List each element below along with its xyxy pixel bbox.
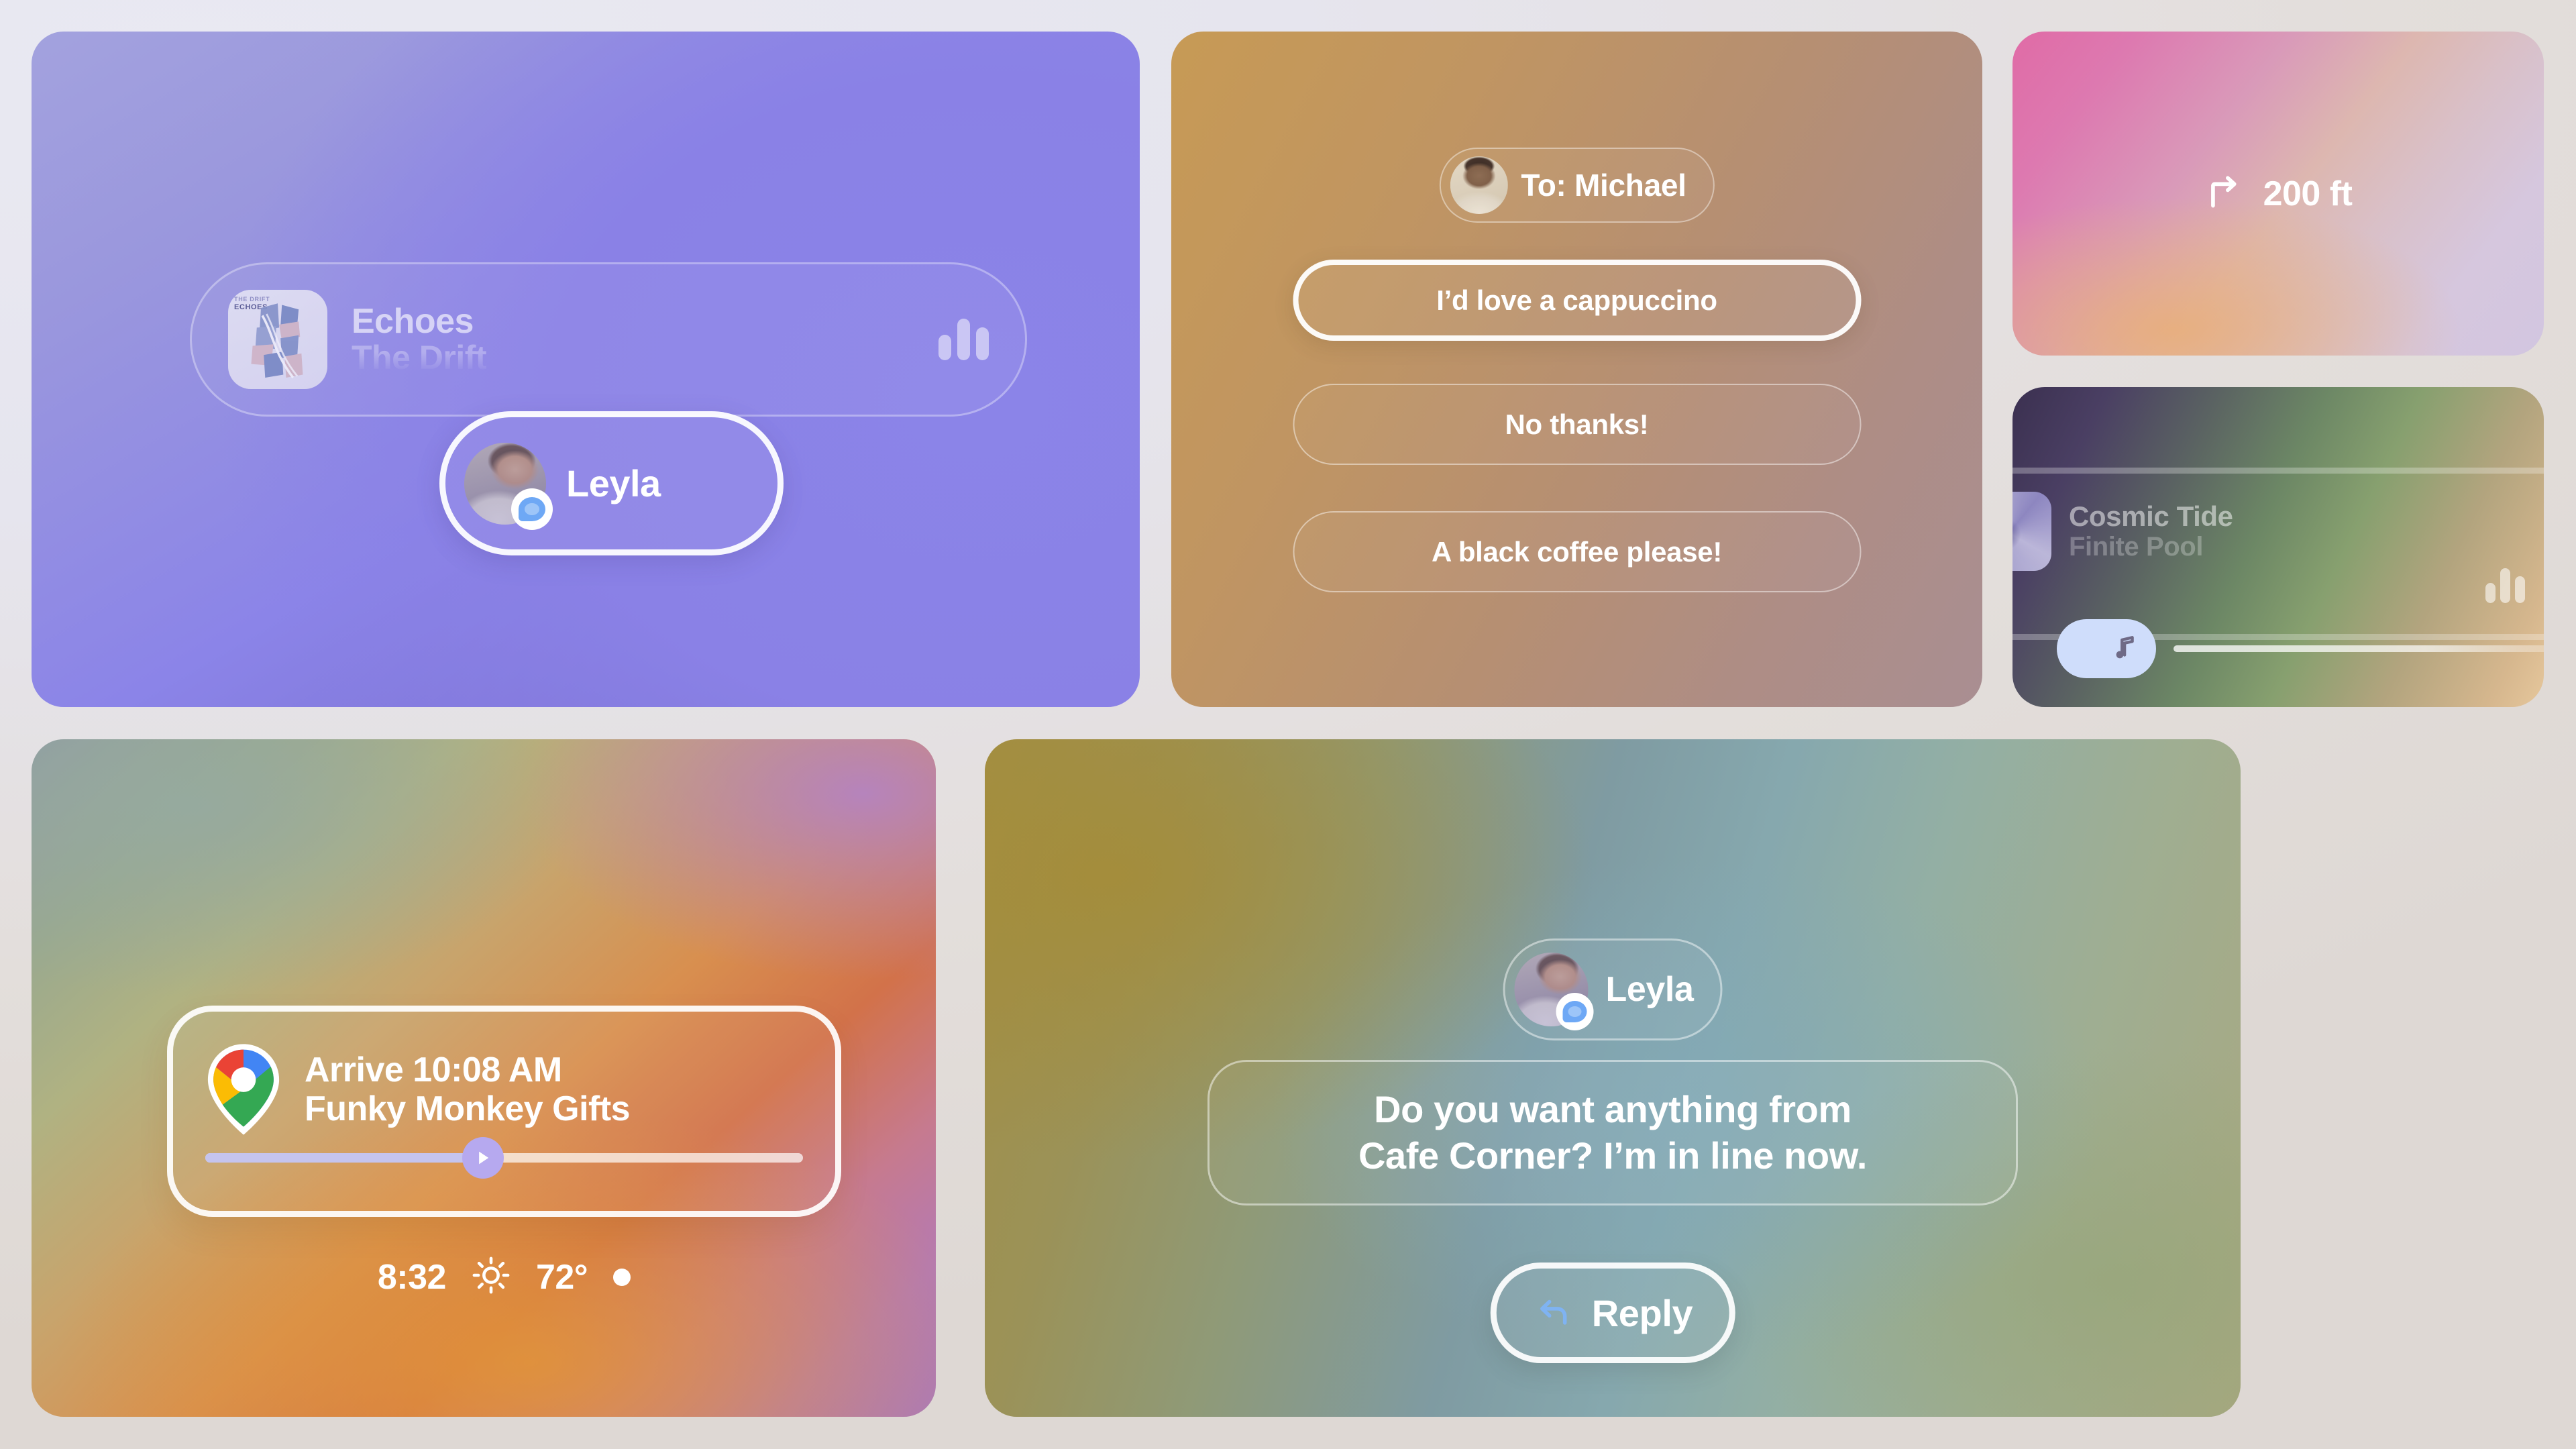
media-player-row[interactable] <box>2057 619 2544 678</box>
message-bubble: Do you want anything from Cafe Corner? I… <box>1207 1060 2018 1205</box>
now-playing-bar[interactable]: THE DRIFT ECHOES <box>190 262 1027 417</box>
media-progress-track[interactable] <box>2173 645 2544 652</box>
reply-button[interactable]: Reply <box>1491 1263 1735 1363</box>
reply-option-2[interactable]: A black coffee please! <box>1293 511 1861 592</box>
recipient-label: To: Michael <box>1521 167 1686 203</box>
navigation-turn-card[interactable]: 200 ft <box>2012 32 2544 356</box>
media-meta: Cosmic Tide Finite Pool <box>2069 501 2233 561</box>
album-art-thumbnail: THE DRIFT ECHOES <box>228 290 327 389</box>
now-playing-meta: Echoes The Drift <box>352 303 486 376</box>
music-note-button[interactable] <box>2057 619 2156 678</box>
recipient-chip[interactable]: To: Michael <box>1439 148 1714 223</box>
slider-fill <box>205 1153 483 1163</box>
avatar-michael <box>1450 156 1507 214</box>
now-playing-card[interactable]: THE DRIFT ECHOES <box>32 32 1140 707</box>
avatar <box>1515 953 1589 1026</box>
suggested-replies-card[interactable]: To: Michael I’d love a cappuccino No tha… <box>1171 32 1982 707</box>
reply-option-1[interactable]: No thanks! <box>1293 384 1861 465</box>
turn-right-icon <box>2204 171 2246 216</box>
sun-icon <box>472 1256 511 1298</box>
avatar <box>464 443 546 525</box>
message-sender-chip[interactable]: Leyla <box>1503 938 1723 1040</box>
equalizer-icon <box>2485 568 2525 603</box>
arrival-header: Arrive 10:08 AM Funky Monkey Gifts <box>173 1012 835 1136</box>
reply-button-label: Reply <box>1592 1291 1693 1335</box>
music-note-icon <box>2110 631 2141 667</box>
arrival-destination: Funky Monkey Gifts <box>305 1089 630 1128</box>
turn-instruction: 200 ft <box>2204 171 2353 216</box>
arrival-panel[interactable]: Arrive 10:08 AM Funky Monkey Gifts <box>167 1006 841 1217</box>
navigation-arrow-icon[interactable] <box>462 1137 504 1179</box>
track-artist: The Drift <box>352 340 486 376</box>
track-title: Cosmic Tide <box>2069 501 2233 532</box>
reply-option-0[interactable]: I’d love a cappuccino <box>1293 260 1861 341</box>
media-info: THE DRIFT ECHOES Cosmic Tide Finite Pool <box>2012 492 2233 571</box>
message-line-1: Do you want anything from <box>1374 1088 1851 1130</box>
messages-bubble-icon <box>1556 993 1594 1030</box>
sender-name: Leyla <box>1606 969 1694 1010</box>
album-art-shapes <box>243 302 313 384</box>
reply-arrow-icon <box>1533 1292 1574 1334</box>
google-maps-pin-icon <box>204 1042 283 1136</box>
divider-top <box>2012 468 2544 474</box>
caller-name: Leyla <box>566 462 661 505</box>
status-dot-icon <box>613 1269 631 1286</box>
arrival-time: Arrive 10:08 AM <box>305 1051 630 1089</box>
equalizer-icon <box>938 319 989 360</box>
widget-grid: THE DRIFT ECHOES <box>0 0 2576 1449</box>
messages-bubble-icon <box>511 488 553 530</box>
reply-option-label: No thanks! <box>1505 409 1648 441</box>
reply-option-label: I’d love a cappuccino <box>1436 284 1717 317</box>
reply-option-label: A black coffee please! <box>1432 536 1722 568</box>
status-row: 8:32 72° <box>167 1256 841 1298</box>
album-art-thumbnail: THE DRIFT ECHOES <box>2012 492 2051 571</box>
clock-time: 8:32 <box>378 1257 446 1297</box>
caller-pill[interactable]: Leyla <box>439 411 784 555</box>
media-card-secondary[interactable]: THE DRIFT ECHOES Cosmic Tide Finite Pool <box>2012 387 2544 707</box>
message-body: Do you want anything from Cafe Corner? I… <box>1358 1086 1867 1179</box>
turn-distance: 200 ft <box>2263 174 2353 214</box>
track-artist: Finite Pool <box>2069 532 2233 561</box>
temperature: 72° <box>536 1257 588 1297</box>
navigation-arrival-card[interactable]: Arrive 10:08 AM Funky Monkey Gifts 8:32 <box>32 739 936 1417</box>
route-progress-slider[interactable] <box>205 1142 803 1173</box>
incoming-message-card[interactable]: Leyla Do you want anything from Cafe Cor… <box>985 739 2241 1417</box>
track-title: Echoes <box>352 303 486 340</box>
arrival-text: Arrive 10:08 AM Funky Monkey Gifts <box>305 1051 630 1128</box>
message-line-2: Cafe Corner? I’m in line now. <box>1358 1134 1867 1177</box>
